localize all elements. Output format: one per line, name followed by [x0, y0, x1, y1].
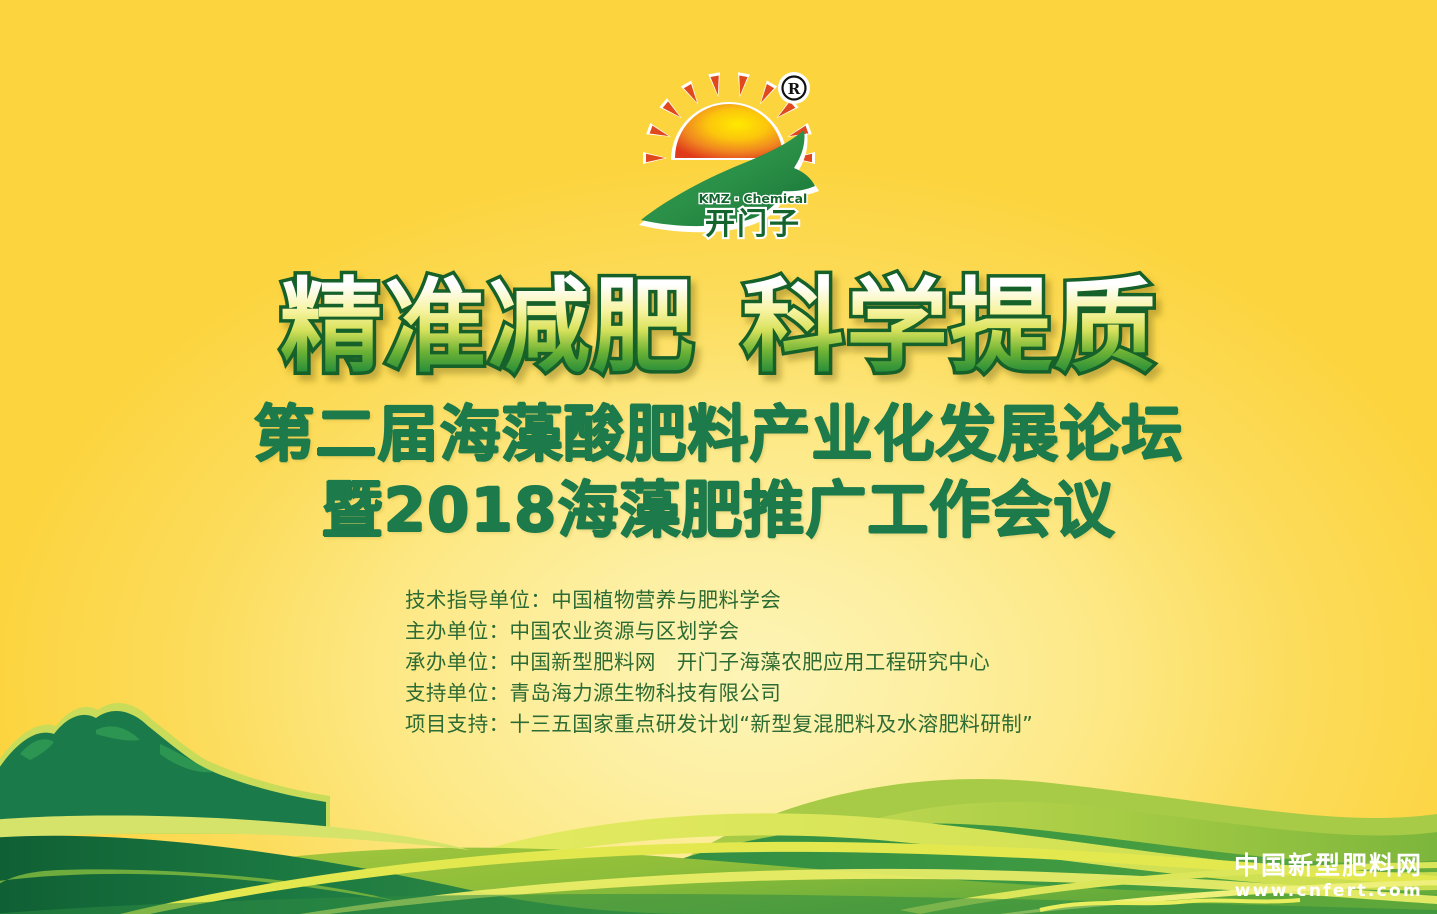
poster-subtitle: 第二届海藻酸肥料产业化发展论坛 暨2018海藻肥推广工作会议 — [0, 404, 1437, 542]
watermark-site-name: 中国新型肥料网 — [1234, 853, 1423, 878]
headline-graphic: 精准减肥科学提质 — [189, 266, 1249, 384]
headline-part1: 精准减肥 — [280, 268, 696, 387]
sun-disc-icon — [671, 102, 787, 160]
logo-graphic: KMZ · Chemical 开门子 R — [631, 62, 831, 242]
headline-part2: 科学提质 — [742, 268, 1158, 387]
landscape-graphic — [0, 614, 1437, 914]
kmz-chemical-logo: KMZ · Chemical 开门子 R — [631, 62, 831, 242]
registered-trademark-icon: R — [778, 72, 810, 104]
logo-brand-latin: KMZ · Chemical — [699, 191, 808, 206]
site-watermark: 中国新型肥料网 www.cnfert.com — [1234, 853, 1423, 900]
logo-brand-cn: 开门子 — [705, 207, 801, 242]
subtitle-line-1: 第二届海藻酸肥料产业化发展论坛 — [0, 404, 1437, 466]
watermark-url: www.cnfert.com — [1234, 883, 1423, 900]
headline-text: 精准减肥科学提质 — [280, 268, 1158, 387]
landscape-illustration — [0, 614, 1437, 914]
svg-text:R: R — [788, 80, 801, 98]
conference-poster: KMZ · Chemical 开门子 R — [0, 0, 1437, 914]
subtitle-line-2: 暨2018海藻肥推广工作会议 — [0, 480, 1437, 542]
info-line-technical-guidance: 技术指导单位：中国植物营养与肥料学会 — [405, 585, 1165, 616]
poster-headline: 精准减肥科学提质 — [0, 266, 1437, 384]
